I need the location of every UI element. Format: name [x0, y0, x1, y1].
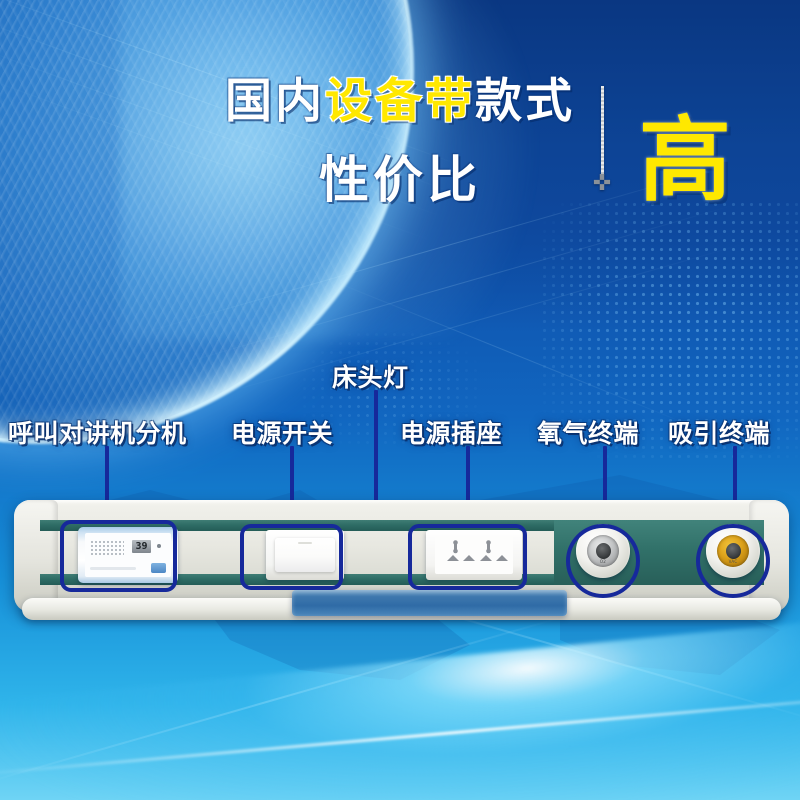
- highlight-circle-suction: [696, 524, 770, 598]
- bhu-end-cap-left: [14, 500, 58, 612]
- callout-label-suction-outlet: 吸引终端: [668, 414, 770, 450]
- callout-label-power-switch: 电源开关: [231, 414, 333, 450]
- headline-seg-2: 设备带: [325, 74, 475, 129]
- headline-accent-character: 高: [639, 115, 735, 207]
- headline-seg-1: 国内: [225, 74, 325, 129]
- headline-subtext: 性价比: [319, 151, 481, 209]
- headline-seg-3: 款式: [475, 74, 575, 129]
- callout-label-oxygen-outlet: 氧气终端: [537, 414, 639, 450]
- headline-block: 国内设备带款式 性价比 高: [0, 78, 800, 205]
- highlight-box-power-socket: [408, 524, 527, 590]
- promo-banner: 国内设备带款式 性价比 高 呼叫对讲机分机 电源开关 床头灯 电源插座 氧气终端…: [0, 0, 800, 800]
- pull-cord[interactable]: [601, 86, 604, 178]
- highlight-box-power-switch: [240, 524, 343, 590]
- pull-cord-handle-icon[interactable]: ✜: [592, 174, 612, 194]
- callout-label-intercom: 呼叫对讲机分机: [8, 414, 187, 450]
- callout-label-bedside-lamp: 床头灯: [332, 358, 409, 394]
- callout-label-power-socket: 电源插座: [400, 414, 502, 450]
- highlight-box-intercom: [60, 520, 177, 592]
- highlight-circle-oxygen: [566, 524, 640, 598]
- headline-line-2: 性价比 高: [0, 155, 800, 205]
- bedside-lamp-cover: [292, 590, 567, 616]
